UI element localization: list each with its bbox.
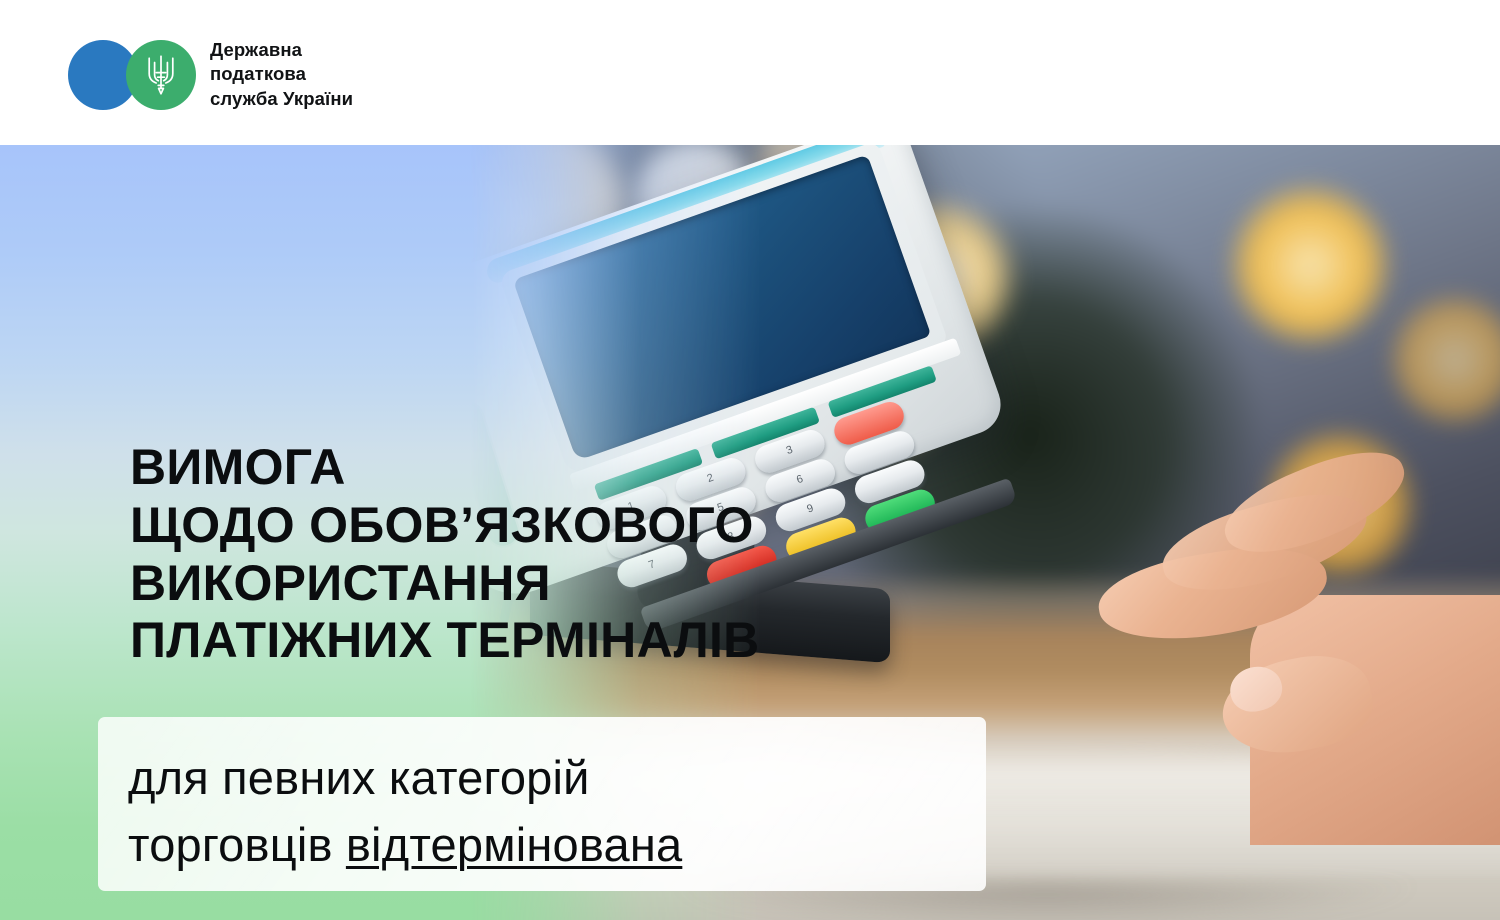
ukraine-trident-icon: [146, 54, 176, 96]
customer-hand: [1130, 445, 1500, 845]
logo-text-line-3: служба України: [210, 87, 353, 111]
subtitle-card: для певних категорій торговців відтермін…: [98, 717, 986, 891]
headline-line-4: ПЛАТІЖНИХ ТЕРМІНАЛІВ: [130, 612, 760, 670]
headline-line-2: ЩОДО ОБОВ’ЯЗКОВОГО: [130, 497, 760, 555]
headline-line-1: ВИМОГА: [130, 439, 760, 497]
logo-text-line-1: Державна: [210, 38, 353, 62]
banner-headline: ВИМОГА ЩОДО ОБОВ’ЯЗКОВОГО ВИКОРИСТАННЯ П…: [130, 439, 760, 670]
subtitle-line-2: торговців відтермінована: [128, 812, 682, 879]
headline-line-3: ВИКОРИСТАННЯ: [130, 555, 760, 613]
infographic-canvas: Державна податкова служба України: [0, 0, 1500, 920]
subtitle-line-1: для певних категорій: [128, 745, 682, 812]
subtitle-line-2-prefix: торговців: [128, 818, 346, 871]
logo-text-line-2: податкова: [210, 62, 353, 86]
subtitle-text: для певних категорій торговців відтермін…: [128, 745, 682, 878]
banner-stage: 1 2 3 4 5 6 7 8 9: [0, 145, 1500, 920]
logo-mark: [68, 40, 196, 110]
agency-logo: Державна податкова служба України: [68, 38, 353, 111]
agency-logo-text: Державна податкова служба України: [210, 38, 353, 111]
subtitle-emphasis: відтермінована: [346, 818, 682, 871]
brand-header: Державна податкова служба України: [0, 0, 1500, 145]
